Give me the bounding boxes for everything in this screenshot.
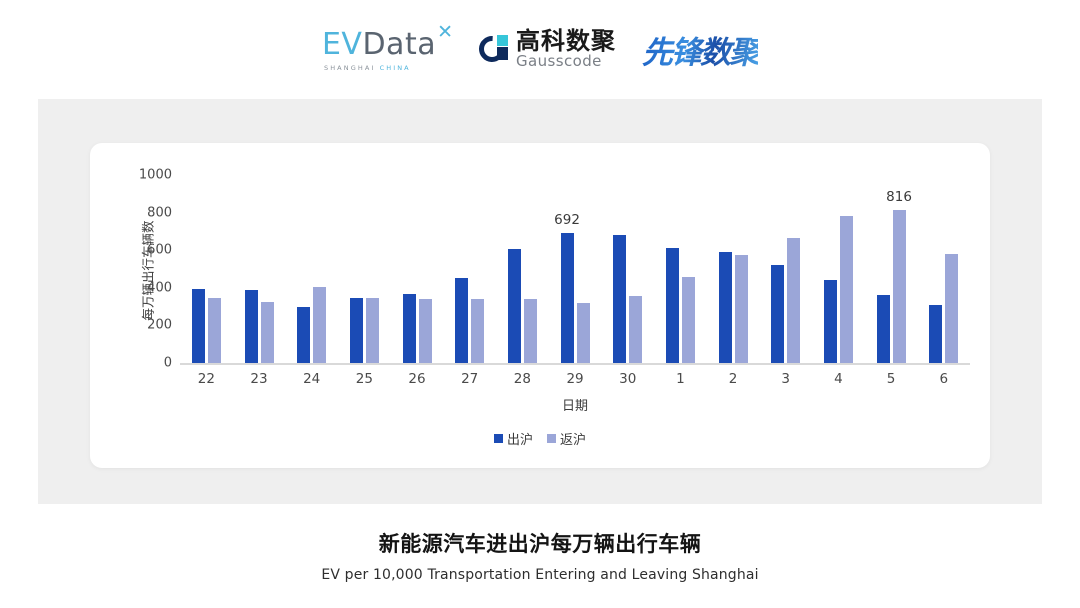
x-axis-tick: 5 [865, 371, 918, 387]
bar-out[interactable] [877, 295, 890, 363]
x-axis-tick: 3 [759, 371, 812, 387]
bar-back[interactable] [524, 299, 537, 363]
bar-back[interactable] [577, 303, 590, 363]
evdata-tagline-china: CHINA [380, 64, 411, 72]
bar-group [443, 175, 496, 363]
legend-swatch [494, 434, 503, 443]
logo-xianfeng: 先锋数聚 [642, 27, 758, 72]
bar-out[interactable] [245, 290, 258, 363]
xianfeng-cn-text: 先锋数聚 [642, 27, 758, 72]
bar-group [338, 175, 391, 363]
bar-back[interactable] [735, 255, 748, 363]
bar-back[interactable] [366, 298, 379, 363]
bar-out[interactable] [824, 280, 837, 363]
bar-out[interactable] [666, 248, 679, 363]
logo-bar: EV Data ✕ SHANGHAI CHINA 高科数聚 Gausscode … [0, 0, 1080, 98]
bar-value-label: 816 [886, 189, 912, 205]
bar-group [496, 175, 549, 363]
x-axis-label: 日期 [180, 395, 970, 414]
gausscode-en-text: Gausscode [516, 54, 616, 69]
bar-back[interactable] [471, 299, 484, 363]
y-axis-tick: 0 [126, 356, 172, 371]
x-axis-tick: 23 [233, 371, 286, 387]
x-axis-tick: 6 [917, 371, 970, 387]
x-axis-tick: 25 [338, 371, 391, 387]
bar-group [759, 175, 812, 363]
x-axis-tick: 1 [654, 371, 707, 387]
x-axis-tick: 29 [549, 371, 602, 387]
x-axis-ticks: 222324252627282930123456 [180, 371, 970, 387]
bar-back[interactable] [840, 216, 853, 363]
x-axis-tick: 28 [496, 371, 549, 387]
y-axis-tick: 800 [126, 205, 172, 220]
bar-out[interactable]: 692 [561, 233, 574, 363]
bar-back[interactable] [629, 296, 642, 363]
x-axis-line [180, 363, 970, 365]
legend-swatch [547, 434, 556, 443]
bar-group [391, 175, 444, 363]
chart-card: 每万辆出行车辆数 02004006008001000 692816 222324… [90, 143, 990, 468]
logo-gausscode: 高科数聚 Gausscode [479, 29, 616, 69]
x-axis-tick: 24 [285, 371, 338, 387]
bar-group: 816 [865, 175, 918, 363]
bar-group [233, 175, 286, 363]
evdata-tagline-shanghai: SHANGHAI [324, 64, 375, 72]
caption-english-subtitle: EV per 10,000 Transportation Entering an… [0, 567, 1080, 583]
x-axis-tick: 27 [443, 371, 496, 387]
chart-legend: 出沪返沪 [90, 429, 990, 448]
bar-back[interactable] [419, 299, 432, 363]
bar-out[interactable] [350, 298, 363, 363]
bar-out[interactable] [403, 294, 416, 363]
bar-out[interactable] [297, 307, 310, 363]
bar-group [707, 175, 760, 363]
x-axis-tick: 22 [180, 371, 233, 387]
bar-group [917, 175, 970, 363]
bar-group [601, 175, 654, 363]
bar-groups: 692816 [180, 175, 970, 363]
caption-block: 新能源汽车进出沪每万辆出行车辆 EV per 10,000 Transporta… [0, 528, 1080, 583]
bar-back[interactable] [261, 302, 274, 363]
y-axis-tick: 200 [126, 318, 172, 333]
bar-back[interactable] [208, 298, 221, 363]
bar-out[interactable] [455, 278, 468, 363]
bar-out[interactable] [192, 289, 205, 363]
bar-group [285, 175, 338, 363]
legend-label: 出沪 [507, 429, 533, 448]
legend-item[interactable]: 返沪 [547, 429, 586, 448]
y-axis-tick: 400 [126, 280, 172, 295]
evdata-wordmark: EV Data ✕ [322, 27, 453, 62]
y-axis-tick: 1000 [126, 168, 172, 183]
plot-area: 692816 [180, 175, 970, 363]
y-axis-ticks: 02004006008001000 [112, 143, 172, 468]
bar-back[interactable] [787, 238, 800, 363]
x-mark-icon: ✕ [437, 23, 453, 42]
bar-group: 692 [549, 175, 602, 363]
chart-panel: 每万辆出行车辆数 02004006008001000 692816 222324… [38, 99, 1042, 504]
bar-out[interactable] [613, 235, 626, 363]
bar-back[interactable] [313, 287, 326, 363]
evdata-data-text: Data [362, 27, 436, 62]
bar-group [812, 175, 865, 363]
logo-evdata: EV Data ✕ SHANGHAI CHINA [322, 27, 453, 72]
bar-out[interactable] [929, 305, 942, 363]
bar-chart: 每万辆出行车辆数 02004006008001000 692816 222324… [90, 143, 990, 468]
bar-back[interactable] [945, 254, 958, 363]
x-axis-tick: 2 [707, 371, 760, 387]
y-axis-tick: 600 [126, 243, 172, 258]
bar-value-label: 692 [554, 212, 580, 228]
slide-page: EV Data ✕ SHANGHAI CHINA 高科数聚 Gausscode … [0, 0, 1080, 608]
bar-back[interactable] [682, 277, 695, 363]
bar-out[interactable] [508, 249, 521, 363]
legend-label: 返沪 [560, 429, 586, 448]
caption-chinese-title: 新能源汽车进出沪每万辆出行车辆 [0, 528, 1080, 558]
gausscode-cn-text: 高科数聚 [516, 29, 616, 54]
bar-out[interactable] [771, 265, 784, 363]
bar-back[interactable]: 816 [893, 210, 906, 363]
x-axis-tick: 26 [391, 371, 444, 387]
evdata-ev-text: EV [322, 27, 362, 62]
bar-group [654, 175, 707, 363]
bar-group [180, 175, 233, 363]
bar-out[interactable] [719, 252, 732, 363]
x-axis-tick: 30 [601, 371, 654, 387]
gausscode-c-icon [479, 34, 509, 64]
x-axis-tick: 4 [812, 371, 865, 387]
evdata-tagline: SHANGHAI CHINA [324, 64, 411, 72]
legend-item[interactable]: 出沪 [494, 429, 533, 448]
